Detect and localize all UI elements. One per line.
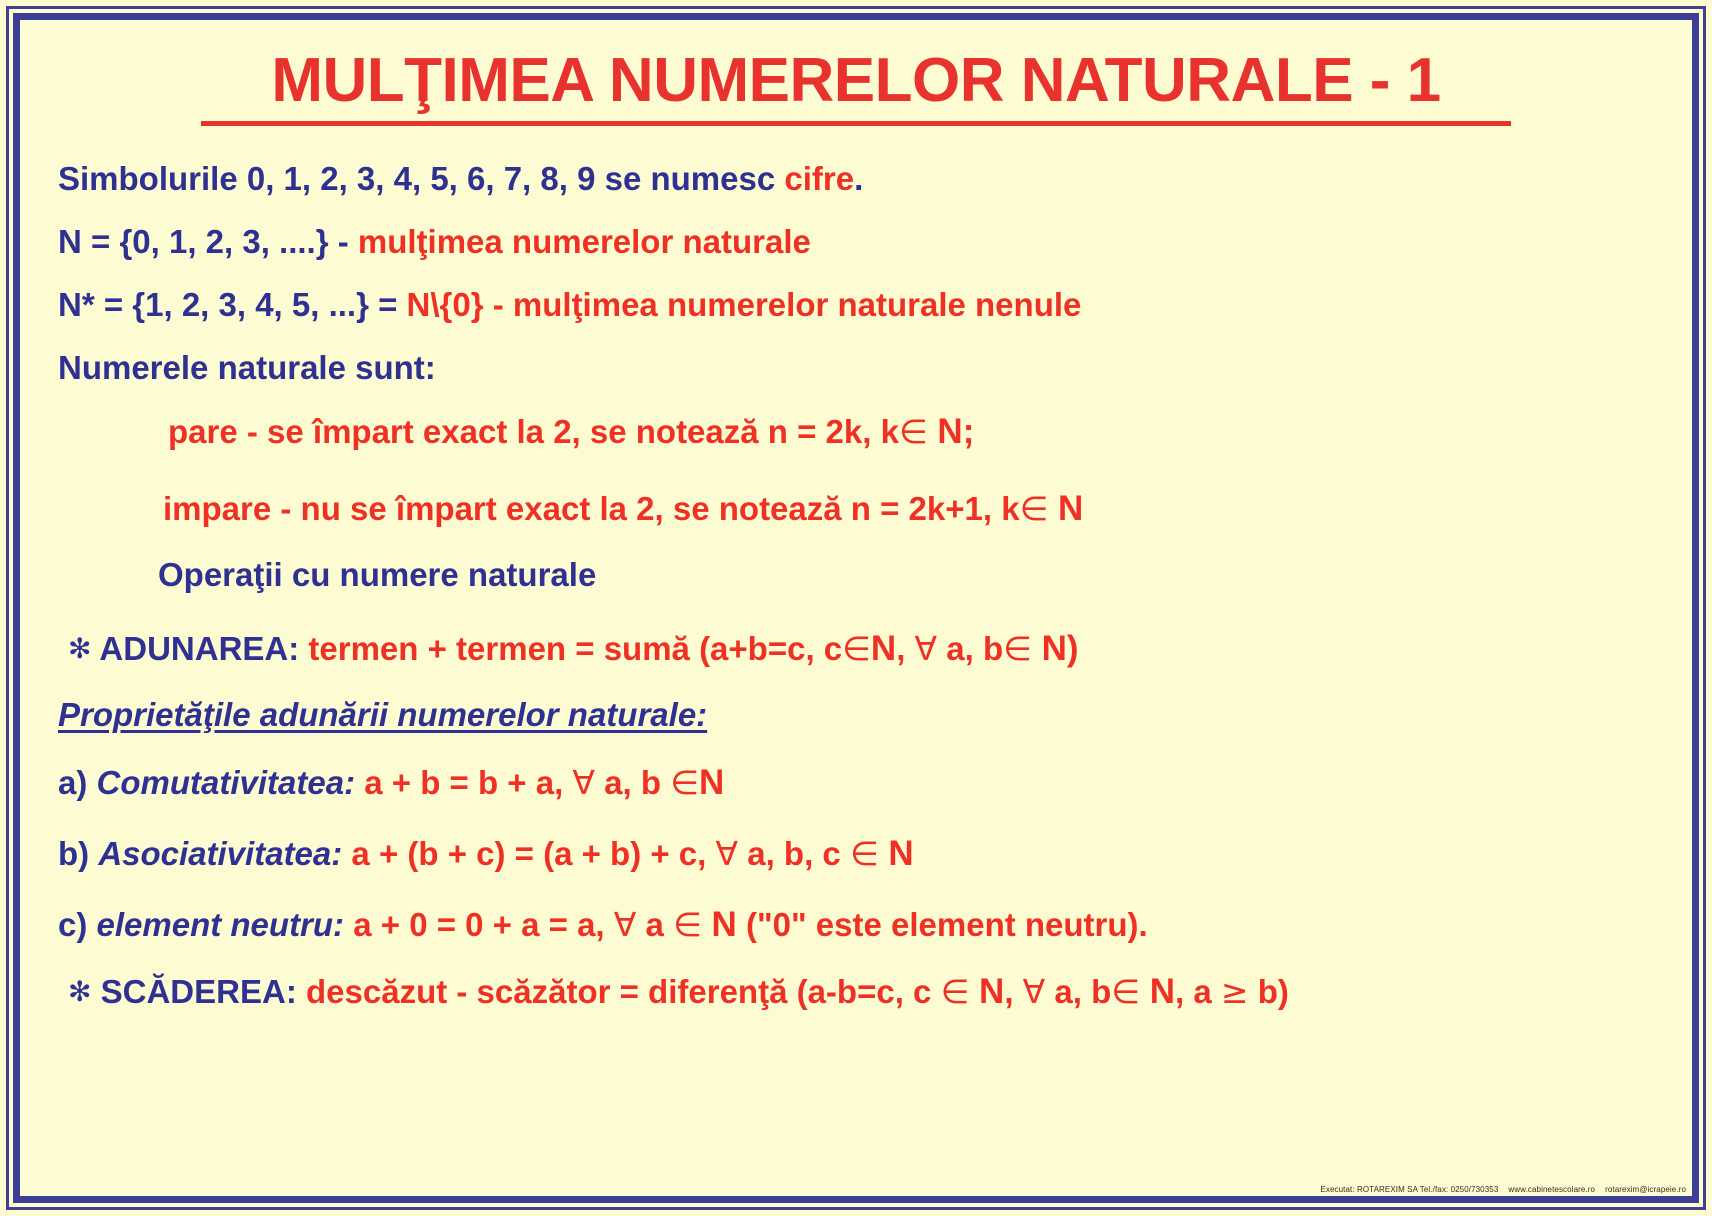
- asterisk-icon: ✻: [68, 975, 91, 1008]
- numerele-sunt-text: Numerele naturale sunt:: [58, 349, 436, 386]
- scaderea-set-n-2: N: [1140, 972, 1175, 1011]
- simboluri-keyword: cifre: [784, 160, 854, 197]
- property-a-set-n: N: [699, 763, 724, 802]
- for-all-icon: ∀: [572, 763, 595, 802]
- n-set-definition: N = {0, 1, 2, 3, ....} -: [58, 223, 358, 260]
- scaderea-body-2: ,: [1004, 973, 1022, 1010]
- operatii-heading: Operaţii cu numere naturale: [158, 556, 596, 593]
- scaderea-set-n-1: N: [969, 972, 1004, 1011]
- element-of-icon: ∈: [670, 763, 699, 802]
- simboluri-text: Simbolurile 0, 1, 2, 3, 4, 5, 6, 7, 8, 9…: [58, 160, 784, 197]
- property-c-set-n: N: [702, 905, 737, 944]
- asterisk-icon: ✻: [68, 632, 91, 665]
- adunarea-label: ADUNAREA:: [91, 630, 308, 667]
- property-a-body-2: a, b: [595, 764, 670, 801]
- line-property-a: a) Comutativitatea: a + b = b + a, ∀ a, …: [58, 765, 1658, 800]
- element-of-icon: ∈: [1111, 972, 1140, 1011]
- element-of-icon: ∈: [899, 412, 928, 451]
- n-set-description: mulţimea numerelor naturale: [358, 223, 811, 260]
- adunarea-body-3: a, b: [937, 630, 1003, 667]
- property-b-set-n: N: [879, 834, 914, 873]
- simboluri-period: .: [854, 160, 863, 197]
- element-of-icon: ∈: [1020, 489, 1049, 528]
- line-n-star: N* = {1, 2, 3, 4, 5, ...} = N\{0} - mulţ…: [58, 288, 1658, 321]
- for-all-icon: ∀: [915, 629, 938, 668]
- scaderea-body-1: descăzut - scăzător = diferenţă (a-b=c, …: [306, 973, 941, 1010]
- property-b-body-1: a + (b + c) = (a + b) + c,: [342, 835, 715, 872]
- for-all-icon: ∀: [716, 834, 739, 873]
- greater-or-equal-icon: ≥: [1221, 972, 1249, 1011]
- line-operatii: Operaţii cu numere naturale: [58, 558, 1658, 591]
- adunarea-body-1: termen + termen = sumă (a+b=c, c: [308, 630, 842, 667]
- line-property-b: b) Asociativitatea: a + (b + c) = (a + b…: [58, 836, 1658, 871]
- title-underline: [201, 121, 1511, 126]
- property-b-body-2: a, b, c: [738, 835, 850, 872]
- line-pare: pare - se împart exact la 2, se notează …: [58, 414, 1658, 449]
- line-n-set: N = {0, 1, 2, 3, ....} - mulţimea numere…: [58, 225, 1658, 258]
- property-c-body-2: a: [636, 906, 673, 943]
- page-title: MULŢIMEA NUMERELOR NATURALE - 1: [20, 48, 1692, 119]
- element-of-icon: ∈: [941, 972, 970, 1011]
- footer-website: www.cabinetescolare.ro: [1508, 1185, 1595, 1194]
- element-of-icon: ∈: [850, 834, 879, 873]
- line-adunarea: ✻ ADUNAREA: termen + termen = sumă (a+b=…: [58, 631, 1658, 666]
- adunarea-body-2: ,: [896, 630, 914, 667]
- poster-root: MULŢIMEA NUMERELOR NATURALE - 1 Simbolur…: [0, 0, 1712, 1216]
- property-b-name: Asociativitatea:: [98, 835, 342, 872]
- scaderea-body-5: b): [1249, 973, 1289, 1010]
- impare-text: impare - nu se împart exact la 2, se not…: [163, 490, 1020, 527]
- element-of-icon: ∈: [1003, 629, 1032, 668]
- body-block: Simbolurile 0, 1, 2, 3, 4, 5, 6, 7, 8, 9…: [20, 162, 1692, 1009]
- element-of-icon: ∈: [842, 629, 871, 668]
- line-scaderea: ✻ SCĂDEREA: descăzut - scăzător = difere…: [58, 974, 1658, 1009]
- footer-credit: Executat: ROTAREXIM SA Tel./fax: 0250/73…: [1310, 1185, 1686, 1194]
- adunarea-set-n-1: N: [871, 629, 896, 668]
- line-impare: impare - nu se împart exact la 2, se not…: [58, 491, 1658, 526]
- property-b-label: b): [58, 835, 98, 872]
- scaderea-body-4: , a: [1175, 973, 1221, 1010]
- for-all-icon: ∀: [1023, 972, 1046, 1011]
- scaderea-body-3: a, b: [1045, 973, 1111, 1010]
- property-a-label: a): [58, 764, 97, 801]
- property-a-body-1: a + b = b + a,: [355, 764, 572, 801]
- impare-set-n: N: [1048, 489, 1083, 528]
- property-c-name: element neutru:: [97, 906, 345, 943]
- pare-set-n: N;: [928, 412, 975, 451]
- property-c-body-1: a + 0 = 0 + a = a,: [344, 906, 614, 943]
- footer-email: rotarexim@icrapeie.ro: [1605, 1185, 1686, 1194]
- line-proprietati: Proprietăţile adunării numerelor natural…: [58, 698, 1658, 731]
- element-of-icon: ∈: [673, 905, 702, 944]
- property-a-name: Comutativitatea:: [97, 764, 356, 801]
- for-all-icon: ∀: [614, 905, 637, 944]
- property-c-body-3: ("0" este element neutru).: [737, 906, 1148, 943]
- n-star-definition: N* = {1, 2, 3, 4, 5, ...} =: [58, 286, 407, 323]
- line-property-c: c) element neutru: a + 0 = 0 + a = a, ∀ …: [58, 907, 1658, 942]
- property-c-label: c): [58, 906, 97, 943]
- footer-manufacturer: Executat: ROTAREXIM SA Tel./fax: 0250/73…: [1320, 1185, 1498, 1194]
- line-numerele-sunt: Numerele naturale sunt:: [58, 351, 1658, 384]
- scaderea-label: SCĂDEREA:: [91, 973, 306, 1010]
- poster-content: MULŢIMEA NUMERELOR NATURALE - 1 Simbolur…: [20, 20, 1692, 1196]
- line-simboluri: Simbolurile 0, 1, 2, 3, 4, 5, 6, 7, 8, 9…: [58, 162, 1658, 195]
- pare-text: pare - se împart exact la 2, se notează …: [168, 413, 899, 450]
- adunarea-set-n-2: N): [1032, 629, 1079, 668]
- proprietati-heading: Proprietăţile adunării numerelor natural…: [58, 696, 707, 733]
- n-star-description: N\{0} - mulţimea numerelor naturale nenu…: [407, 286, 1082, 323]
